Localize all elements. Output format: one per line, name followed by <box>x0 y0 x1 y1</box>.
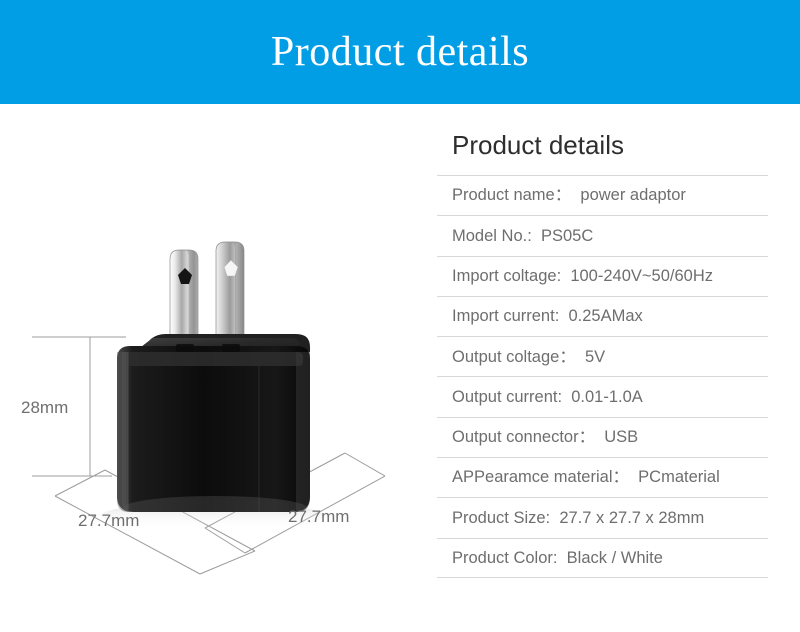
spec-key: Product name <box>452 186 555 204</box>
spec-separator: : <box>557 267 562 285</box>
spec-value: PCmaterial <box>638 468 720 486</box>
banner-title: Product details <box>271 31 529 73</box>
spec-separator: : <box>557 388 562 406</box>
spec-value: 0.01-1.0A <box>571 388 643 406</box>
spec-value: 0.25AMax <box>568 307 642 325</box>
dimension-height-label: 28mm <box>21 398 68 418</box>
spec-row-text: Output current: 0.01-1.0A <box>452 389 643 406</box>
page-banner: Product details <box>0 0 800 104</box>
spec-row: Output current: 0.01-1.0A <box>437 376 768 416</box>
spec-value: 27.7 x 27.7 x 28mm <box>559 509 704 527</box>
spec-key: Model No. <box>452 227 527 245</box>
spec-row: Product name： power adaptor <box>437 175 768 215</box>
product-photo-panel: 28mm 27.7mm 27.7mm <box>0 104 430 632</box>
spec-row-text: Import coltage: 100-240V~50/60Hz <box>452 268 713 285</box>
spec-row-text: Import current: 0.25AMax <box>452 308 643 325</box>
spec-value: 100-240V~50/60Hz <box>570 267 713 285</box>
spec-separator: ： <box>555 186 572 204</box>
spec-row: APPearamce material： PCmaterial <box>437 457 768 497</box>
spec-key: Product Size <box>452 509 546 527</box>
spec-row-text: Output coltage： 5V <box>452 349 605 366</box>
spec-row: Model No.: PS05C <box>437 215 768 255</box>
spec-separator: : <box>555 307 560 325</box>
spec-row: Product Color: Black / White <box>437 538 768 578</box>
spec-key: Output current <box>452 388 557 406</box>
spec-key: Import current <box>452 307 555 325</box>
spec-key: Output coltage <box>452 348 559 366</box>
spec-separator: ： <box>579 428 596 446</box>
spec-row-text: Product name： power adaptor <box>452 187 686 204</box>
product-details-panel: Product details Product name： power adap… <box>430 104 800 632</box>
spec-key: Import coltage <box>452 267 557 285</box>
spec-row-text: Model No.: PS05C <box>452 228 593 245</box>
spec-key: Product Color <box>452 549 553 567</box>
spec-row-text: Output connector： USB <box>452 429 638 446</box>
dimension-width-right-label: 27.7mm <box>288 507 349 527</box>
spec-value: USB <box>604 428 638 446</box>
product-adaptor-illustration <box>0 104 430 632</box>
spec-row: Import current: 0.25AMax <box>437 296 768 336</box>
spec-row: Import coltage: 100-240V~50/60Hz <box>437 256 768 296</box>
spec-row-text: Product Color: Black / White <box>452 550 663 567</box>
spec-separator: : <box>527 227 532 245</box>
spec-key: Output connector <box>452 428 579 446</box>
spec-row-text: Product Size: 27.7 x 27.7 x 28mm <box>452 510 704 527</box>
spec-row: Product Size: 27.7 x 27.7 x 28mm <box>437 497 768 537</box>
spec-separator: ： <box>559 348 576 366</box>
spec-value: 5V <box>585 348 605 366</box>
adaptor-body <box>117 346 310 512</box>
spec-table: Product name： power adaptorModel No.: PS… <box>437 175 768 578</box>
details-title: Product details <box>452 132 624 158</box>
spec-value: Black / White <box>567 549 663 567</box>
spec-value: power adaptor <box>580 186 686 204</box>
dimension-width-left-label: 27.7mm <box>78 511 139 531</box>
spec-row: Output connector： USB <box>437 417 768 457</box>
spec-separator: : <box>553 549 558 567</box>
spec-key: APPearamce material <box>452 468 612 486</box>
spec-row-text: APPearamce material： PCmaterial <box>452 469 720 486</box>
spec-separator: : <box>546 509 551 527</box>
spec-separator: ： <box>612 468 629 486</box>
spec-row: Output coltage： 5V <box>437 336 768 376</box>
spec-value: PS05C <box>541 227 593 245</box>
